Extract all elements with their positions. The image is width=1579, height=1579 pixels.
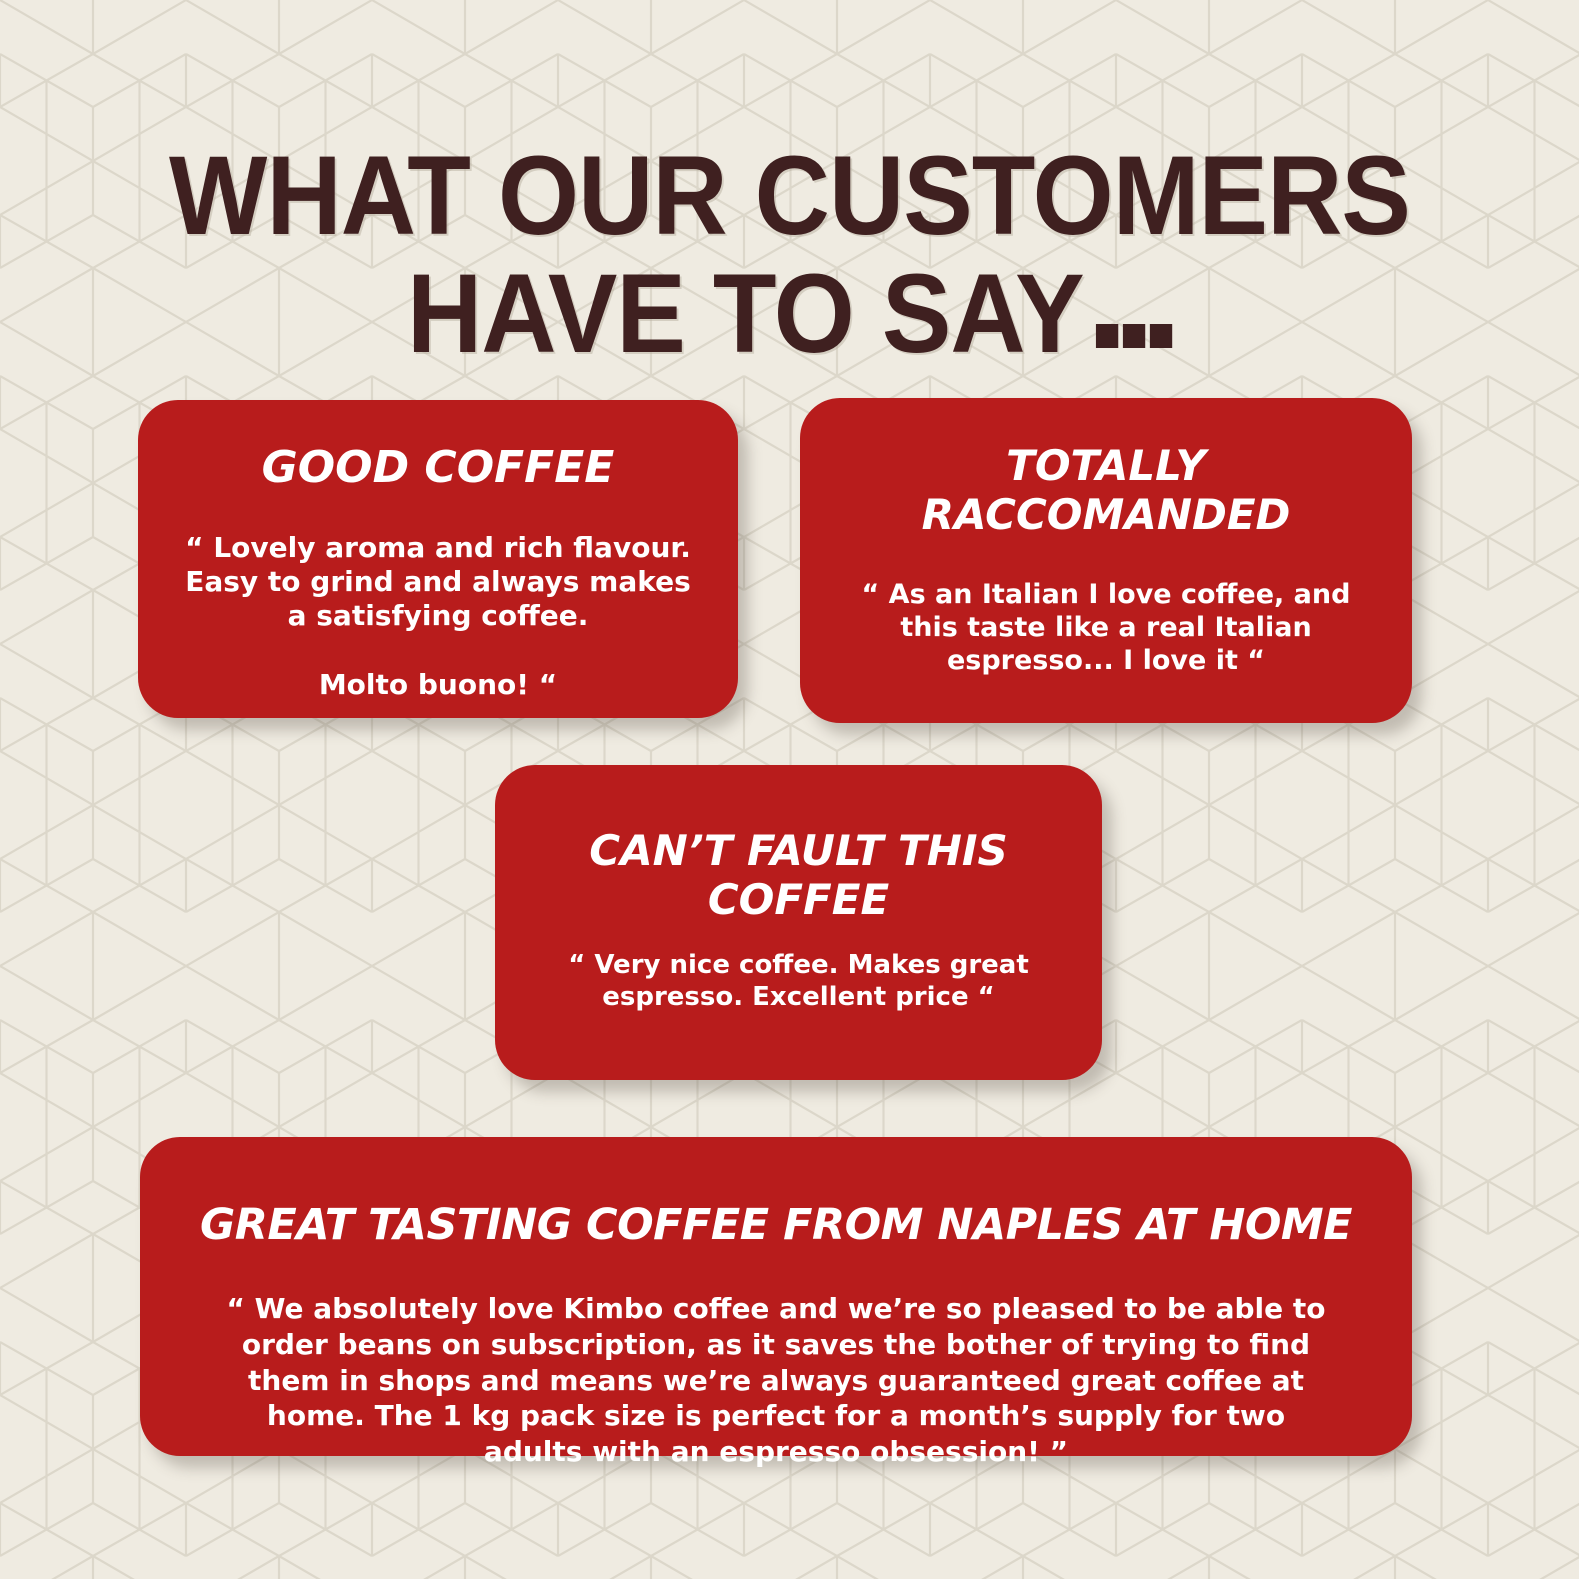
page-title-line-1: WHAT OUR CUSTOMERS xyxy=(55,137,1523,255)
testimonial-title: CAN’T FAULT THIS COFFEE xyxy=(521,827,1076,924)
testimonials-page: WHAT OUR CUSTOMERS HAVE TO SAY GOOD COFF… xyxy=(0,0,1579,1579)
testimonial-title: TOTALLY RACCOMANDED xyxy=(826,442,1386,539)
testimonial-title: GREAT TASTING COFFEE FROM NAPLES AT HOME xyxy=(166,1201,1386,1251)
testimonial-quote: “ Lovely aroma and rich flavour. Easy to… xyxy=(164,531,712,702)
testimonial-title: GOOD COFFEE xyxy=(164,442,712,493)
page-title-line-2: HAVE TO SAY xyxy=(55,255,1523,373)
testimonial-card-totally-raccomanded: TOTALLY RACCOMANDED “ As an Italian I lo… xyxy=(800,398,1412,723)
testimonial-card-cant-fault-this-coffee: CAN’T FAULT THIS COFFEE “ Very nice coff… xyxy=(495,765,1102,1080)
page-title: WHAT OUR CUSTOMERS HAVE TO SAY xyxy=(55,137,1523,373)
testimonial-card-great-tasting-coffee-from-naples-at-home: GREAT TASTING COFFEE FROM NAPLES AT HOME… xyxy=(140,1137,1412,1456)
testimonial-quote: “ We absolutely love Kimbo coffee and we… xyxy=(166,1291,1386,1470)
testimonial-quote: “ Very nice coffee. Makes great espresso… xyxy=(521,950,1076,1013)
testimonial-card-good-coffee: GOOD COFFEE “ Lovely aroma and rich flav… xyxy=(138,400,738,718)
page-title-line-2-text: HAVE TO SAY xyxy=(407,251,1084,376)
ellipsis-icon xyxy=(1091,251,1172,369)
testimonial-quote: “ As an Italian I love coffee, and this … xyxy=(826,579,1386,678)
